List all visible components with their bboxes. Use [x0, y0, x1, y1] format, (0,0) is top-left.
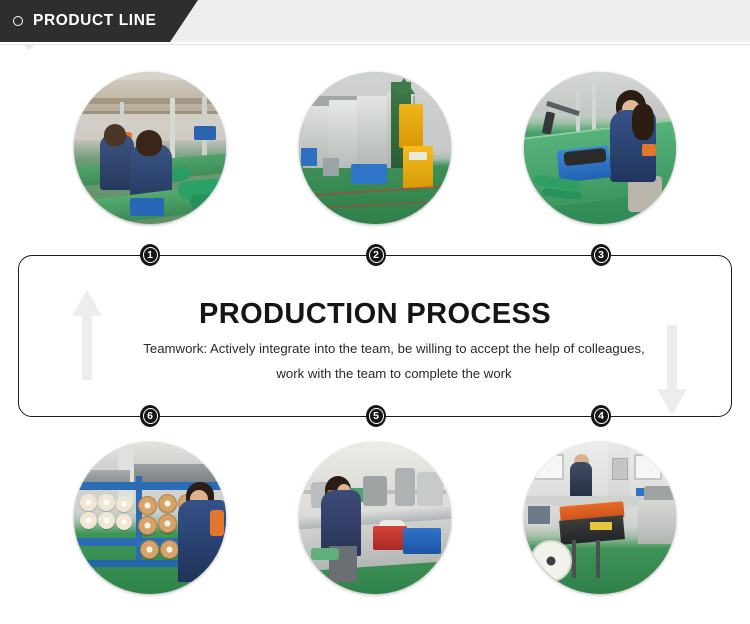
step-badge-1: 1 [140, 244, 160, 266]
step-badge-6: 6 [140, 405, 160, 427]
arrow-up-icon [70, 290, 104, 380]
step-badge-label: 2 [373, 250, 379, 261]
production-process-box: PRODUCTION PROCESS Teamwork: Actively in… [18, 255, 732, 417]
step-badge-2: 2 [366, 244, 386, 266]
process-photo-2 [299, 72, 451, 224]
page-title: PRODUCT LINE [33, 12, 156, 30]
process-photo-4 [524, 442, 676, 594]
process-photo-5 [299, 442, 451, 594]
process-title: PRODUCTION PROCESS [19, 298, 731, 331]
step-badge-label: 6 [147, 411, 153, 422]
header-notch [22, 44, 36, 50]
arrow-down-icon [655, 325, 689, 415]
process-description: Teamwork: Actively integrate into the te… [137, 336, 651, 386]
step-badge-3: 3 [591, 244, 611, 266]
ring-icon [13, 16, 23, 26]
step-badge-label: 1 [147, 250, 153, 261]
process-photo-1 [74, 72, 226, 224]
step-badge-label: 5 [373, 411, 379, 422]
header-divider [0, 44, 750, 45]
header-tab: PRODUCT LINE [0, 0, 198, 42]
product-line-page: PRODUCT LINE [0, 0, 750, 624]
process-photo-6 [74, 442, 226, 594]
process-photo-3 [524, 72, 676, 224]
step-badge-5: 5 [366, 405, 386, 427]
step-badge-4: 4 [591, 405, 611, 427]
step-badge-label: 4 [598, 411, 604, 422]
step-badge-label: 3 [598, 250, 604, 261]
